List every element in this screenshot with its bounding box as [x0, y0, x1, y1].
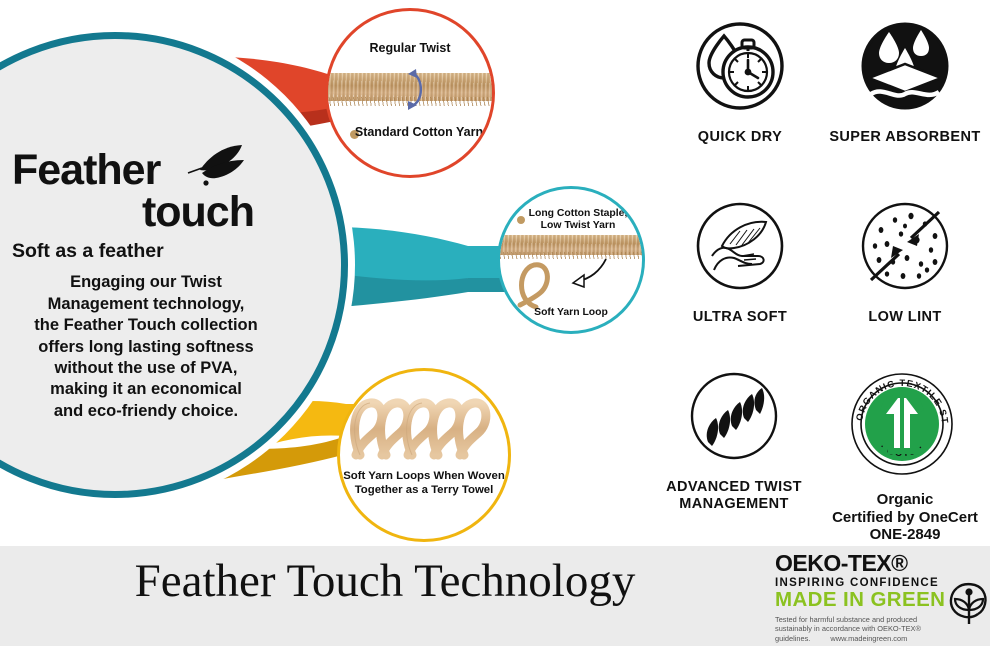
oeko-brand: OEKO-TEX® [775, 552, 990, 575]
feature-low-lint-label: LOW LINT [825, 309, 985, 326]
feature-organic-label-2: Certified by OneCert [825, 509, 985, 527]
droplets-fabric-icon [857, 20, 953, 116]
brand-body-text: Engaging our Twist Management technology… [12, 272, 274, 422]
feature-quick-dry-label: QUICK DRY [660, 129, 820, 146]
callout-regular-twist: Regular Twist Standard Cotton Yarn [325, 8, 495, 178]
feature-organic-gots[interactable]: GLOBAL ORGANIC TEXTILE STANDARD · GOTS ·… [825, 370, 985, 544]
feature-advanced-twist[interactable]: ADVANCED TWIST MANAGEMENT [654, 370, 814, 513]
callout-low-twist-legend-dot [517, 216, 525, 224]
callout-low-twist-legend: Soft Yarn Loop [500, 307, 642, 318]
feature-quick-dry[interactable]: QUICK DRY [660, 20, 820, 146]
twist-arrow-icon [400, 63, 430, 113]
oeko-url[interactable]: www.madeingreen.com [830, 634, 907, 644]
callout-terry-loops-caption-2: Together as a Terry Towel [340, 484, 508, 496]
feather-on-hand-icon [692, 200, 788, 296]
lint-particles-arrows-icon [857, 200, 953, 296]
feather-icon [186, 142, 248, 186]
callout-regular-twist-legend: Standard Cotton Yarn [337, 125, 495, 139]
feature-ultra-soft[interactable]: ULTRA SOFT [660, 200, 820, 326]
loop-arrow-icon [570, 257, 610, 291]
plant-in-circle-icon [948, 580, 990, 626]
brand-line2: touch [12, 191, 274, 234]
feature-advanced-twist-label-1: ADVANCED TWIST [654, 479, 814, 496]
brand-block: Feather touch Soft as a feather Engaging… [12, 150, 274, 422]
feature-ultra-soft-label: ULTRA SOFT [660, 309, 820, 326]
brand-tagline: Soft as a feather [12, 240, 274, 263]
terry-loops-icon [346, 389, 502, 461]
feature-organic-label-3: ONE-2849 [825, 526, 985, 544]
oeko-tex-block: OEKO-TEX® INSPIRING CONFIDENCE MADE IN G… [775, 552, 990, 644]
callout-regular-twist-title: Regular Twist [328, 41, 492, 55]
callout-terry-loops-caption-1: Soft Yarn Loops When Woven [340, 470, 508, 482]
infographic-canvas: Regular Twist Standard Cotton Yarn Long … [0, 0, 990, 646]
feature-super-absorbent[interactable]: SUPER ABSORBENT [825, 20, 985, 146]
banner-title: Feather Touch Technology [0, 554, 770, 608]
callout-terry-loops: Soft Yarn Loops When Woven Together as a… [337, 368, 511, 542]
gots-logo-icon: GLOBAL ORGANIC TEXTILE STANDARD · GOTS · [848, 370, 956, 478]
droplet-stopwatch-icon [692, 20, 788, 116]
callout-low-twist-title-2: Low Twist Yarn [507, 220, 645, 231]
feature-advanced-twist-label-2: MANAGEMENT [654, 496, 814, 513]
feature-icon-grid: QUICK DRY SUPER ABSORBENT [660, 20, 990, 540]
callout-low-twist-title-1: Long Cotton Staple, [507, 208, 645, 219]
twist-bars-icon [686, 370, 782, 466]
yarn-loop-icon [514, 261, 576, 313]
feature-super-absorbent-label: SUPER ABSORBENT [825, 129, 985, 146]
bottom-banner: Feather Touch Technology OEKO-TEX® INSPI… [0, 546, 990, 646]
oeko-fine-print: Tested for harmful substance and produce… [775, 615, 953, 645]
feature-organic-label-1: Organic [825, 491, 985, 509]
feature-low-lint[interactable]: LOW LINT [825, 200, 985, 326]
callout-low-twist: Long Cotton Staple, Low Twist Yarn Soft … [497, 186, 645, 334]
